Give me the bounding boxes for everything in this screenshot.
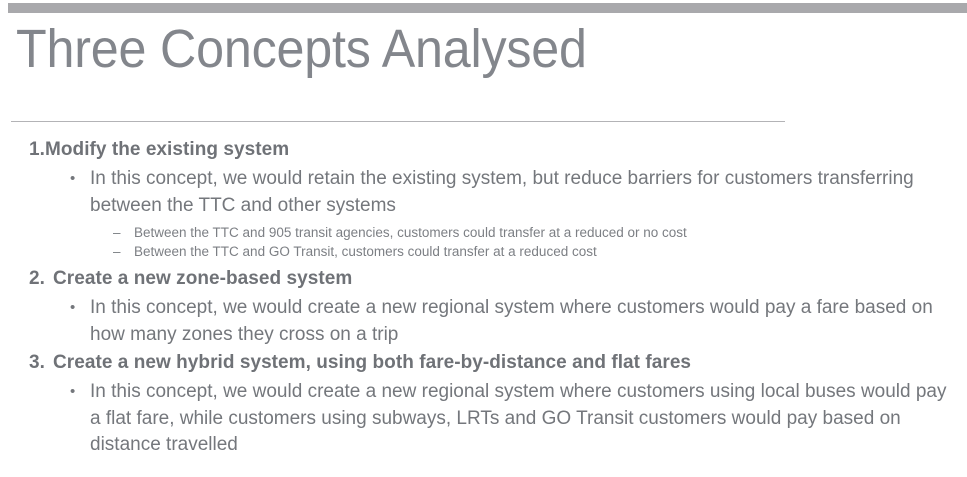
item-heading-3: Create a new hybrid system, using both f… [44, 349, 967, 377]
numbered-item-2: 2. Create a new zone-based system [0, 265, 967, 293]
content-body: 1. Modify the existing system • In this … [0, 136, 967, 459]
bullet-dot-icon: • [70, 166, 90, 193]
list-item: • In this concept, we would create a new… [0, 379, 967, 459]
numbered-item-3: 3. Create a new hybrid system, using bot… [0, 349, 967, 377]
bullet-text: In this concept, we would create a new r… [90, 379, 961, 459]
title-divider [11, 121, 785, 122]
sub-bullet-text: Between the TTC and GO Transit, customer… [134, 242, 967, 261]
page-title: Three Concepts Analysed [16, 18, 853, 80]
bullet-dot-icon: • [70, 295, 90, 322]
sub-bullet-text: Between the TTC and 905 transit agencies… [134, 223, 967, 242]
item-heading-2: Create a new zone-based system [44, 265, 967, 293]
item-number-3: 3. [0, 349, 44, 377]
item-number-2: 2. [0, 265, 44, 293]
item-number-1: 1. [0, 136, 44, 164]
bullet-text: In this concept, we would retain the exi… [90, 166, 961, 219]
list-item: • In this concept, we would create a new… [0, 295, 967, 348]
numbered-item-1: 1. Modify the existing system [0, 136, 967, 164]
en-dash-icon: – [113, 223, 134, 242]
list-item: – Between the TTC and GO Transit, custom… [0, 242, 967, 261]
item-heading-1: Modify the existing system [44, 136, 967, 164]
slide: Three Concepts Analysed 1. Modify the ex… [0, 0, 967, 477]
bullet-dot-icon: • [70, 379, 90, 406]
bullet-text: In this concept, we would create a new r… [90, 295, 961, 348]
list-item: – Between the TTC and 905 transit agenci… [0, 223, 967, 242]
en-dash-icon: – [113, 242, 134, 261]
top-accent-bar [8, 3, 967, 13]
list-item: • In this concept, we would retain the e… [0, 166, 967, 219]
